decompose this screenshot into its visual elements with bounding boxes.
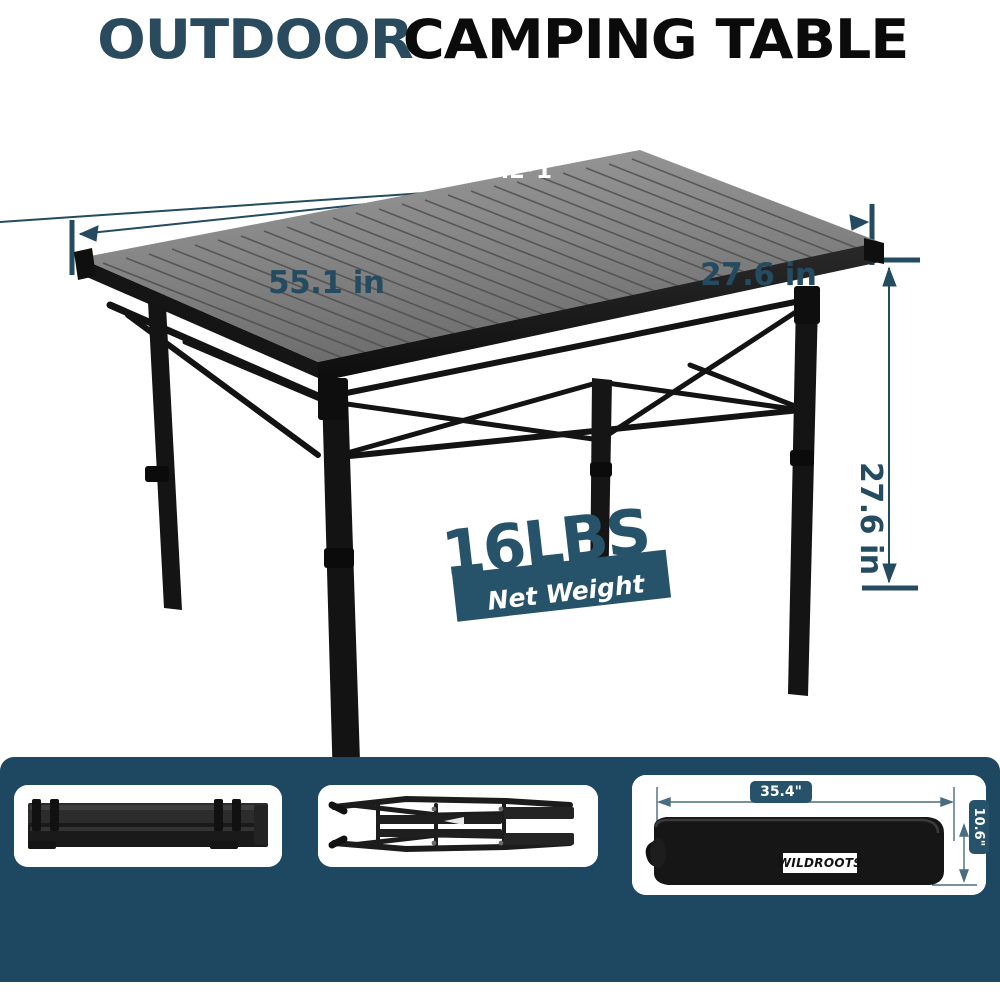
item-card-roll-tabletop[interactable] xyxy=(14,785,282,867)
leg-right xyxy=(788,300,818,696)
rolled-tabletop-photo xyxy=(14,785,282,867)
leg-front-center xyxy=(322,392,362,760)
table-illustration xyxy=(0,110,1000,760)
bag-height-label: 10.6" xyxy=(969,800,989,854)
title-word-outdoor: OUTDOOR xyxy=(97,8,413,71)
dimension-label-width: 55.1 in xyxy=(268,265,384,301)
net-weight-badge: 16LBS Net Weight xyxy=(432,512,682,647)
bag-body xyxy=(654,817,944,885)
brand-logo-wildroots: WILDROOTS xyxy=(783,853,857,873)
folded-iron-frame-photo xyxy=(318,785,598,867)
page-title: OUTDOORCAMPING TABLE xyxy=(0,8,1000,71)
dimension-label-height: 27.6 in xyxy=(853,462,888,575)
item-caption-carry-bag: CARRY BAG*1 xyxy=(632,148,986,178)
tabletop-right-cap xyxy=(864,238,884,264)
infographic-page: OUTDOORCAMPING TABLE xyxy=(0,0,1000,1000)
product-hero-image: 55.1 in 27.6 in 27.6 in xyxy=(0,110,1000,760)
bag-width-label: 35.4" xyxy=(750,781,812,803)
item-caption-iron-frame: ANTI-RUST COATED IRON FRAME*1 xyxy=(318,126,598,186)
tabletop-left-cap xyxy=(74,248,96,280)
item-caption-roll-tabletop: ROLL TABLETOP*1 xyxy=(14,148,282,178)
item-card-iron-frame[interactable] xyxy=(318,785,598,867)
dimension-label-depth: 27.6 in xyxy=(700,257,816,293)
title-word-camping-table: CAMPING TABLE xyxy=(403,8,909,71)
